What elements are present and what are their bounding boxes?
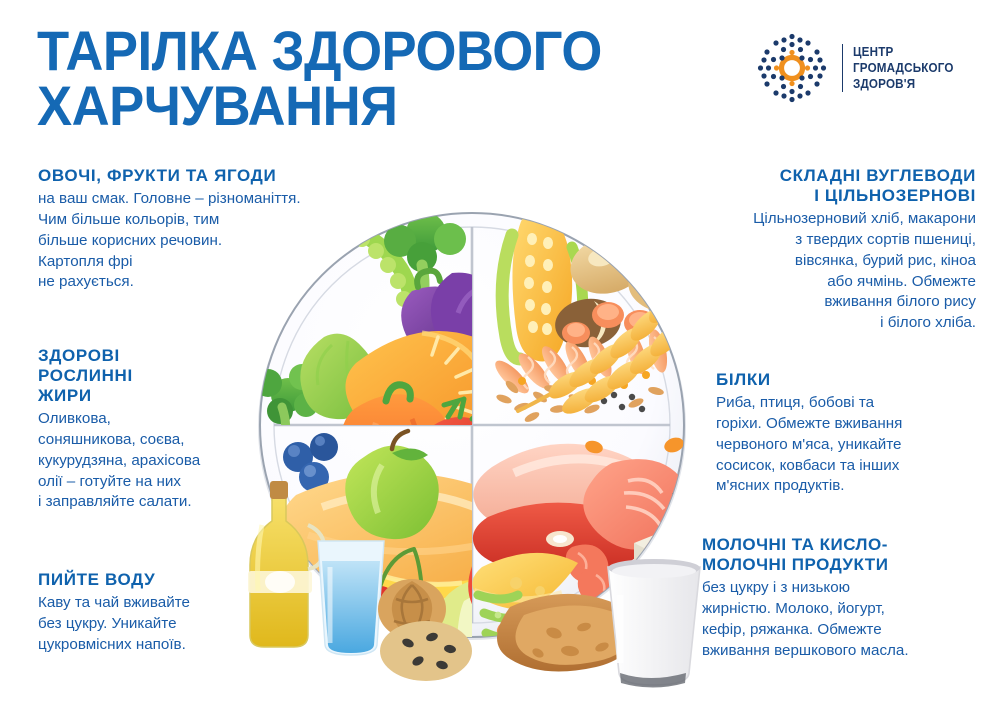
milk-glass-illustration xyxy=(608,559,700,688)
block-proteins-body: Риба, птиця, бобові та горіхи. Обмежте в… xyxy=(716,393,978,497)
block-complex-carbohydrates-heading: СКЛАДНІ ВУГЛЕВОДИ І ЦІЛЬНОЗЕРНОВІ xyxy=(604,166,976,206)
block-drink-water: ПИЙТЕ ВОДУ Каву та чай вживайте без цукр… xyxy=(38,570,288,656)
block-drink-water-body: Каву та чай вживайте без цукру. Уникайте… xyxy=(38,593,288,655)
block-proteins: БІЛКИ Риба, птиця, бобові та горіхи. Обм… xyxy=(716,370,978,497)
block-dairy-heading: МОЛОЧНІ ТА КИСЛО- МОЛОЧНІ ПРОДУКТИ xyxy=(702,535,984,575)
block-vegetables-heading: ОВОЧІ, ФРУКТИ ТА ЯГОДИ xyxy=(38,166,368,186)
infographic-canvas: ТАРІЛКА ЗДОРОВОГО ХАРЧУВАННЯ xyxy=(0,0,1000,707)
block-healthy-fats: ЗДОРОВІ РОСЛИННІ ЖИРИ Оливкова, соняшник… xyxy=(38,346,308,513)
block-dairy-body: без цукру і з низькою жирністю. Молоко, … xyxy=(702,578,984,661)
block-healthy-fats-body: Оливкова, соняшникова, соєва, кукурудзян… xyxy=(38,409,308,513)
page-title: ТАРІЛКА ЗДОРОВОГО ХАРЧУВАННЯ xyxy=(37,24,639,134)
block-dairy: МОЛОЧНІ ТА КИСЛО- МОЛОЧНІ ПРОДУКТИ без ц… xyxy=(702,535,984,661)
block-drink-water-heading: ПИЙТЕ ВОДУ xyxy=(38,570,288,590)
logo-text: ЦЕНТР ГРОМАДСЬКОГО ЗДОРОВ'Я xyxy=(853,44,954,92)
block-healthy-fats-heading: ЗДОРОВІ РОСЛИННІ ЖИРИ xyxy=(38,346,308,406)
block-vegetables-body: на ваш смак. Головне – різноманіття. Чим… xyxy=(38,189,368,293)
organization-logo: ЦЕНТР ГРОМАДСЬКОГО ЗДОРОВ'Я xyxy=(752,28,967,108)
block-vegetables: ОВОЧІ, ФРУКТИ ТА ЯГОДИ на ваш смак. Голо… xyxy=(38,166,368,293)
block-complex-carbohydrates: СКЛАДНІ ВУГЛЕВОДИ І ЦІЛЬНОЗЕРНОВІ Цільно… xyxy=(604,166,976,334)
cph-dot-burst-icon xyxy=(752,28,832,108)
water-glass-illustration xyxy=(318,541,384,655)
block-complex-carbohydrates-body: Цільнозерновий хліб, макарони з твердих … xyxy=(604,209,976,334)
logo-divider xyxy=(842,44,843,92)
block-proteins-heading: БІЛКИ xyxy=(716,370,978,390)
